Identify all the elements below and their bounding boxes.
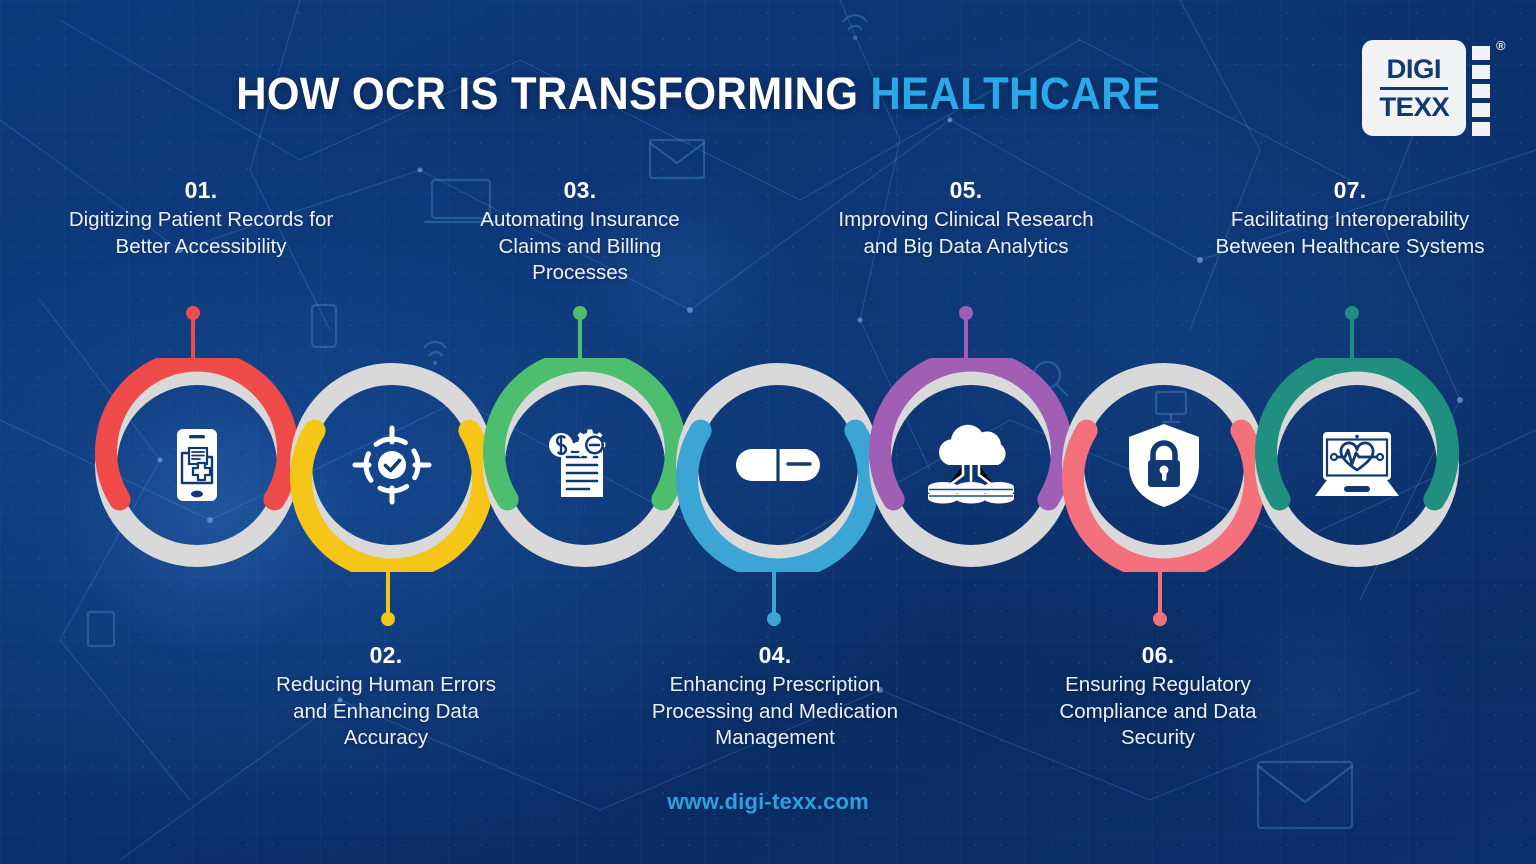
pill-capsule-icon: [671, 358, 885, 572]
step-label-2: 02. Reducing Human Errors and Enhancing …: [258, 641, 514, 751]
connector-line-2: [386, 562, 390, 626]
step-number-7: 07.: [1206, 176, 1494, 205]
logo-film-squares: [1472, 46, 1490, 136]
mobile-health-records-icon: [90, 358, 304, 572]
page-title: HOW OCR IS TRANSFORMING HEALTHCARE: [54, 68, 1482, 120]
logo-divider: [1380, 87, 1448, 90]
step-number-3: 03.: [452, 176, 708, 205]
step-label-7: 07. Facilitating Interoperability Betwee…: [1206, 176, 1494, 260]
step-text-7: Facilitating Interoperability Between He…: [1206, 207, 1494, 259]
step-text-1: Digitizing Patient Records for Better Ac…: [68, 207, 334, 259]
step-text-2: Reducing Human Errors and Enhancing Data…: [258, 672, 514, 751]
step-label-6: 06. Ensuring Regulatory Compliance and D…: [1030, 641, 1286, 751]
step-circle-4[interactable]: [671, 358, 885, 572]
step-circle-5[interactable]: [864, 358, 1078, 572]
step-text-4: Enhancing Prescription Processing and Me…: [634, 672, 916, 751]
title-main: HOW OCR IS TRANSFORMING: [236, 68, 870, 119]
step-label-3: 03. Automating Insurance Claims and Bill…: [452, 176, 708, 286]
target-check-icon: [285, 358, 499, 572]
step-number-6: 06.: [1030, 641, 1286, 670]
step-text-6: Ensuring Regulatory Compliance and Data …: [1030, 672, 1286, 751]
logo-text-texx: TEXX: [1379, 94, 1449, 121]
step-number-4: 04.: [634, 641, 916, 670]
shield-lock-icon: [1057, 358, 1271, 572]
connector-line-4: [772, 562, 776, 626]
step-circle-3[interactable]: [478, 358, 692, 572]
step-label-1: 01. Digitizing Patient Records for Bette…: [68, 176, 334, 260]
step-text-3: Automating Insurance Claims and Billing …: [452, 207, 708, 286]
step-label-5: 05. Improving Clinical Research and Big …: [838, 176, 1094, 260]
logo-text-digi: DIGI: [1387, 56, 1442, 83]
invoice-gear-icon: [478, 358, 692, 572]
step-circle-6[interactable]: [1057, 358, 1271, 572]
step-number-5: 05.: [838, 176, 1094, 205]
registered-trademark-icon: ®: [1496, 38, 1506, 53]
laptop-heartbeat-icon: [1250, 358, 1464, 572]
step-circle-7[interactable]: [1250, 358, 1464, 572]
step-number-2: 02.: [258, 641, 514, 670]
step-number-1: 01.: [68, 176, 334, 205]
title-highlight: HEALTHCARE: [870, 68, 1160, 119]
infographic-canvas: HOW OCR IS TRANSFORMING HEALTHCARE DIGI …: [0, 0, 1536, 864]
website-url[interactable]: www.digi-texx.com: [0, 789, 1536, 815]
step-label-4: 04. Enhancing Prescription Processing an…: [634, 641, 916, 751]
step-text-5: Improving Clinical Research and Big Data…: [838, 207, 1094, 259]
digitexx-logo[interactable]: DIGI TEXX ®: [1362, 32, 1508, 142]
logo-plate: DIGI TEXX: [1362, 40, 1466, 136]
connector-line-6: [1158, 562, 1162, 626]
cloud-database-icon: [864, 358, 1078, 572]
step-circle-1[interactable]: [90, 358, 304, 572]
step-circle-2[interactable]: [285, 358, 499, 572]
